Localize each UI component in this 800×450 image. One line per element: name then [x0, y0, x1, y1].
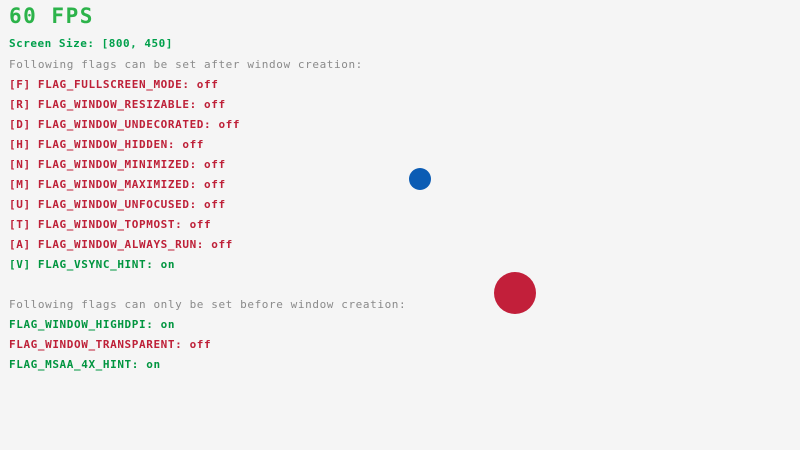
flag-row-fullscreen-mode[interactable]: [F] FLAG_FULLSCREEN_MODE: off	[9, 79, 218, 90]
blue-ball-shape	[409, 168, 431, 190]
flag-row-window-minimized[interactable]: [N] FLAG_WINDOW_MINIMIZED: off	[9, 159, 226, 170]
flag-row-window-hidden[interactable]: [H] FLAG_WINDOW_HIDDEN: off	[9, 139, 204, 150]
flag-row-window-highdpi: FLAG_WINDOW_HIGHDPI: on	[9, 319, 175, 330]
flag-row-window-undecorated[interactable]: [D] FLAG_WINDOW_UNDECORATED: off	[9, 119, 240, 130]
flag-row-window-transparent: FLAG_WINDOW_TRANSPARENT: off	[9, 339, 211, 350]
flag-row-window-always-run[interactable]: [A] FLAG_WINDOW_ALWAYS_RUN: off	[9, 239, 233, 250]
raylib-window-canvas: 60 FPS Screen Size: [800, 450] Following…	[0, 0, 800, 450]
flag-row-window-unfocused[interactable]: [U] FLAG_WINDOW_UNFOCUSED: off	[9, 199, 226, 210]
flag-row-window-resizable[interactable]: [R] FLAG_WINDOW_RESIZABLE: off	[9, 99, 226, 110]
red-ball-shape	[494, 272, 536, 314]
screen-size-label: Screen Size: [800, 450]	[9, 38, 173, 49]
heading-flags-before-creation: Following flags can only be set before w…	[9, 299, 406, 310]
heading-flags-after-creation: Following flags can be set after window …	[9, 59, 363, 70]
flag-row-window-maximized[interactable]: [M] FLAG_WINDOW_MAXIMIZED: off	[9, 179, 226, 190]
flag-row-window-topmost[interactable]: [T] FLAG_WINDOW_TOPMOST: off	[9, 219, 211, 230]
fps-counter: 60 FPS	[9, 6, 94, 27]
flag-row-vsync-hint[interactable]: [V] FLAG_VSYNC_HINT: on	[9, 259, 175, 270]
flag-row-msaa-4x-hint: FLAG_MSAA_4X_HINT: on	[9, 359, 161, 370]
